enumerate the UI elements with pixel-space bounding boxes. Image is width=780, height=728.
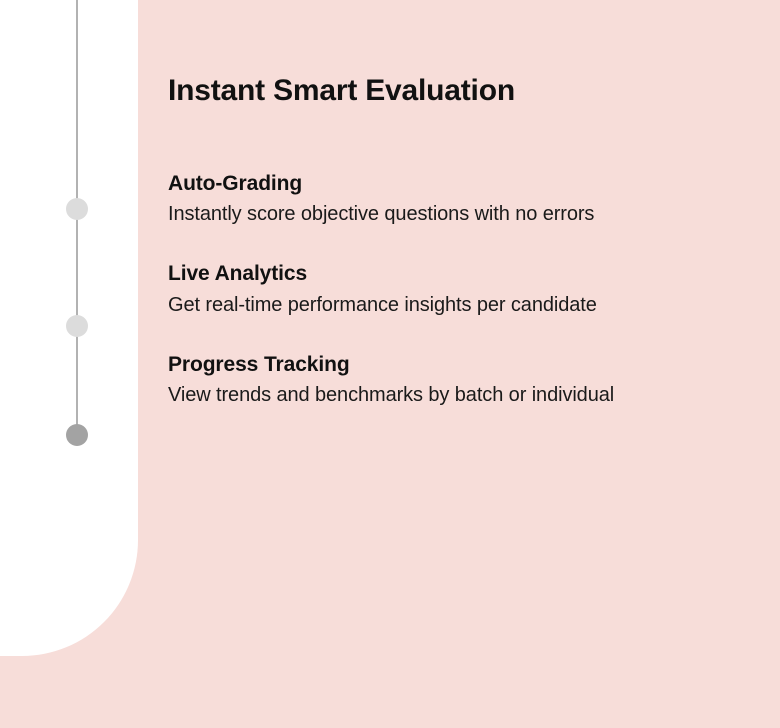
feature-title: Progress Tracking [168,350,758,380]
timeline-dot-progress-tracking[interactable] [66,424,88,446]
feature-description: View trends and benchmarks by batch or i… [168,380,758,410]
feature-item-live-analytics: Live Analytics Get real-time performance… [168,259,758,319]
feature-item-progress-tracking: Progress Tracking View trends and benchm… [168,350,758,410]
feature-description: Instantly score objective questions with… [168,199,758,229]
page-title: Instant Smart Evaluation [168,0,758,109]
feature-list: Auto-Grading Instantly score objective q… [168,169,758,410]
slide-canvas: Instant Smart Evaluation Auto-Grading In… [0,0,780,728]
feature-title: Auto-Grading [168,169,758,199]
feature-description: Get real-time performance insights per c… [168,290,758,320]
timeline-dot-auto-grading[interactable] [66,198,88,220]
content-column: Instant Smart Evaluation Auto-Grading In… [168,0,758,410]
timeline-dot-live-analytics[interactable] [66,315,88,337]
feature-item-auto-grading: Auto-Grading Instantly score objective q… [168,169,758,229]
feature-title: Live Analytics [168,259,758,289]
